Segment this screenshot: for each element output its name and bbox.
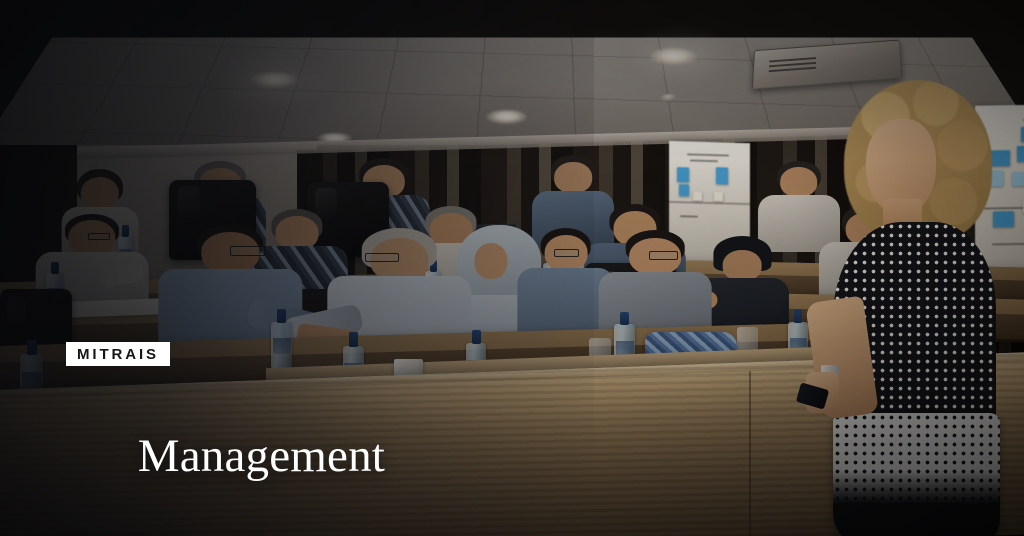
page-title: Management Training Program: [66, 383, 403, 536]
banner-overlay: MITRAIS Management Training Program: [66, 342, 403, 536]
mitrais-logo-badge: MITRAIS: [66, 342, 170, 366]
training-program-banner: MITRAIS Management Training Program: [0, 0, 1024, 536]
page-title-line-1: Management: [138, 430, 385, 482]
